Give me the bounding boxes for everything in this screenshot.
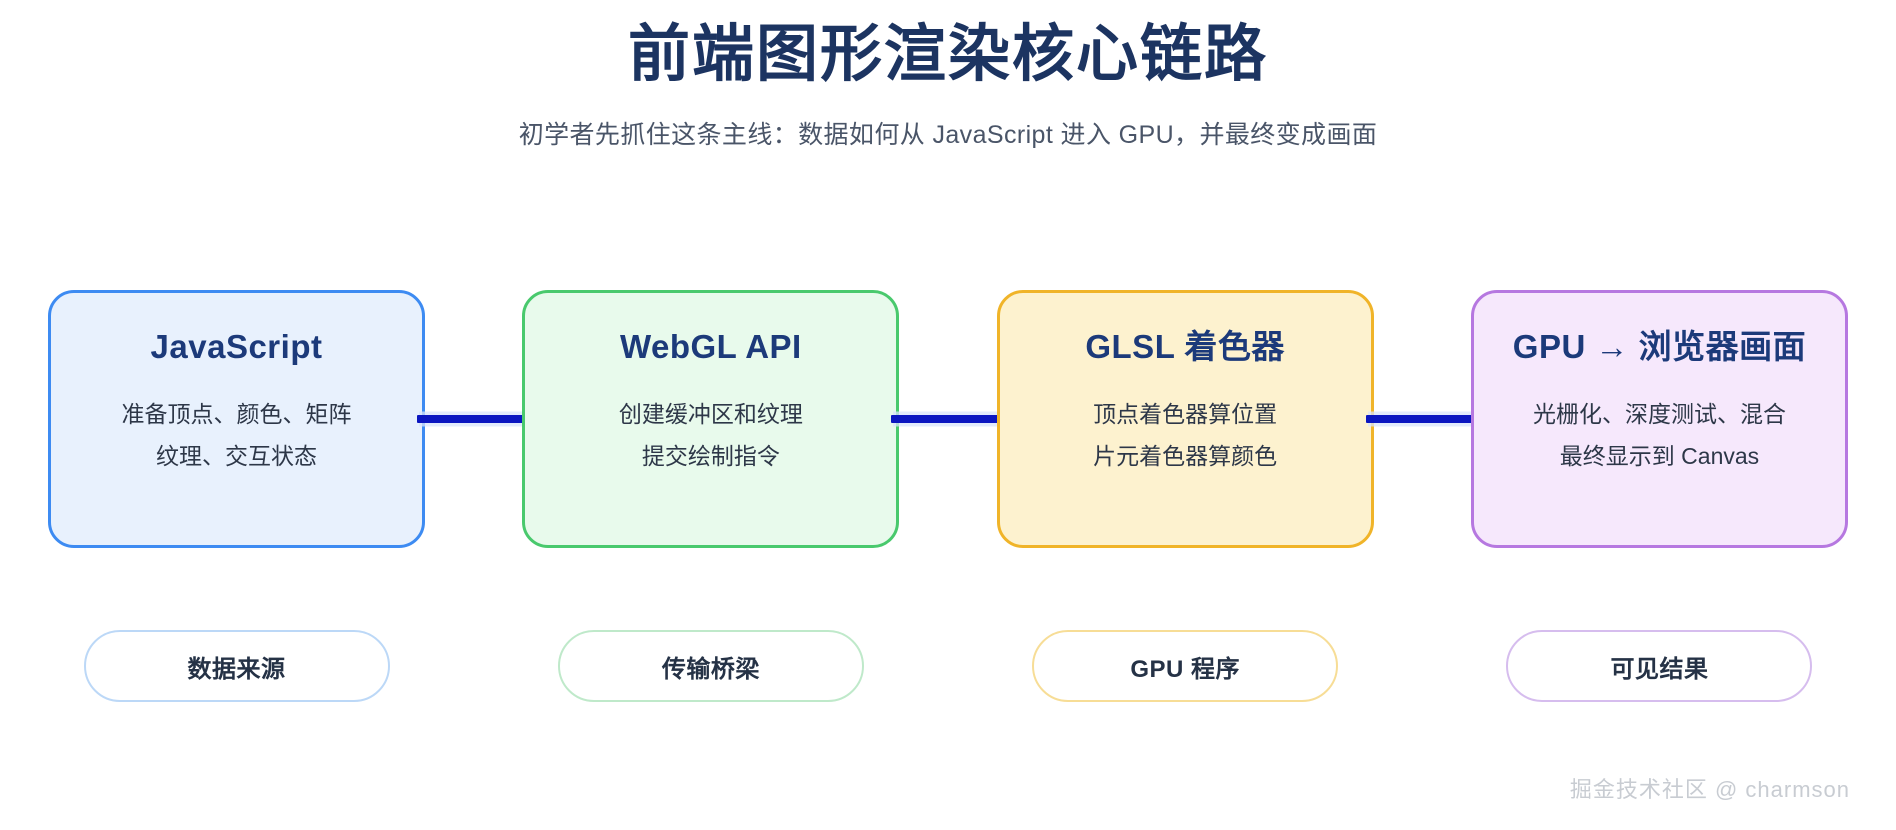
pipeline-stage-gpu-browser[interactable]: GPU → 浏览器画面 光栅化、深度测试、混合 最终显示到 Canvas xyxy=(1471,290,1848,548)
tag-slot: 数据来源 xyxy=(48,630,425,702)
stage-line: 光栅化、深度测试、混合 xyxy=(1533,393,1786,435)
stage-tag-label: GPU 程序 xyxy=(1130,649,1240,684)
stage-line: 纹理、交互状态 xyxy=(122,435,352,477)
slide-header: 前端图形渲染核心链路 初学者先抓住这条主线：数据如何从 JavaScript 进… xyxy=(0,0,1896,151)
stage-tag-label: 数据来源 xyxy=(188,649,286,684)
stage-tag-label: 可见结果 xyxy=(1610,649,1708,684)
page-title: 前端图形渲染核心链路 xyxy=(0,0,1896,89)
stage-line: 顶点着色器算位置 xyxy=(1093,393,1277,435)
stage-description: 准备顶点、颜色、矩阵 纹理、交互状态 xyxy=(122,393,352,477)
stage-line: 准备顶点、颜色、矩阵 xyxy=(122,393,352,435)
tag-spacer xyxy=(899,630,996,702)
pipeline-stage-webgl-api[interactable]: WebGL API 创建缓冲区和纹理 提交绘制指令 xyxy=(522,290,899,548)
tag-slot: GPU 程序 xyxy=(997,630,1374,702)
stage-title: GPU → 浏览器画面 xyxy=(1513,327,1806,367)
stage-tag-transport-bridge[interactable]: 传输桥梁 xyxy=(558,630,864,702)
tag-spacer xyxy=(425,630,522,702)
stage-title: JavaScript xyxy=(151,327,323,367)
stage-line: 片元着色器算颜色 xyxy=(1093,435,1277,477)
stage-line: 提交绘制指令 xyxy=(619,435,803,477)
stage-description: 创建缓冲区和纹理 提交绘制指令 xyxy=(619,393,803,477)
render-pipeline: JavaScript 准备顶点、颜色、矩阵 纹理、交互状态 WebGL API … xyxy=(48,290,1848,548)
stage-tag-visible-result[interactable]: 可见结果 xyxy=(1506,630,1812,702)
tag-slot: 可见结果 xyxy=(1471,630,1848,702)
stage-tag-row: 数据来源 传输桥梁 GPU 程序 可见结果 xyxy=(48,630,1848,702)
stage-description: 光栅化、深度测试、混合 最终显示到 Canvas xyxy=(1533,393,1786,477)
slide-root: { "header": { "title": "前端图形渲染核心链路", "su… xyxy=(0,0,1896,830)
pipeline-connector-3 xyxy=(1374,290,1471,548)
stage-tag-gpu-program[interactable]: GPU 程序 xyxy=(1032,630,1338,702)
tag-spacer xyxy=(1374,630,1471,702)
stage-title: WebGL API xyxy=(620,327,802,367)
stage-tag-label: 传输桥梁 xyxy=(662,649,760,684)
pipeline-connector-1 xyxy=(425,290,522,548)
pipeline-stage-glsl-shader[interactable]: GLSL 着色器 顶点着色器算位置 片元着色器算颜色 xyxy=(997,290,1374,548)
stage-line: 最终显示到 Canvas xyxy=(1533,435,1786,477)
page-subtitle: 初学者先抓住这条主线：数据如何从 JavaScript 进入 GPU，并最终变成… xyxy=(0,89,1896,152)
stage-description: 顶点着色器算位置 片元着色器算颜色 xyxy=(1093,393,1277,477)
watermark: 掘金技术社区 @ charmson xyxy=(1570,772,1850,804)
stage-tag-data-source[interactable]: 数据来源 xyxy=(84,630,390,702)
stage-line: 创建缓冲区和纹理 xyxy=(619,393,803,435)
tag-slot: 传输桥梁 xyxy=(522,630,899,702)
stage-title: GLSL 着色器 xyxy=(1085,327,1285,367)
pipeline-connector-2 xyxy=(899,290,996,548)
pipeline-stage-javascript[interactable]: JavaScript 准备顶点、颜色、矩阵 纹理、交互状态 xyxy=(48,290,425,548)
